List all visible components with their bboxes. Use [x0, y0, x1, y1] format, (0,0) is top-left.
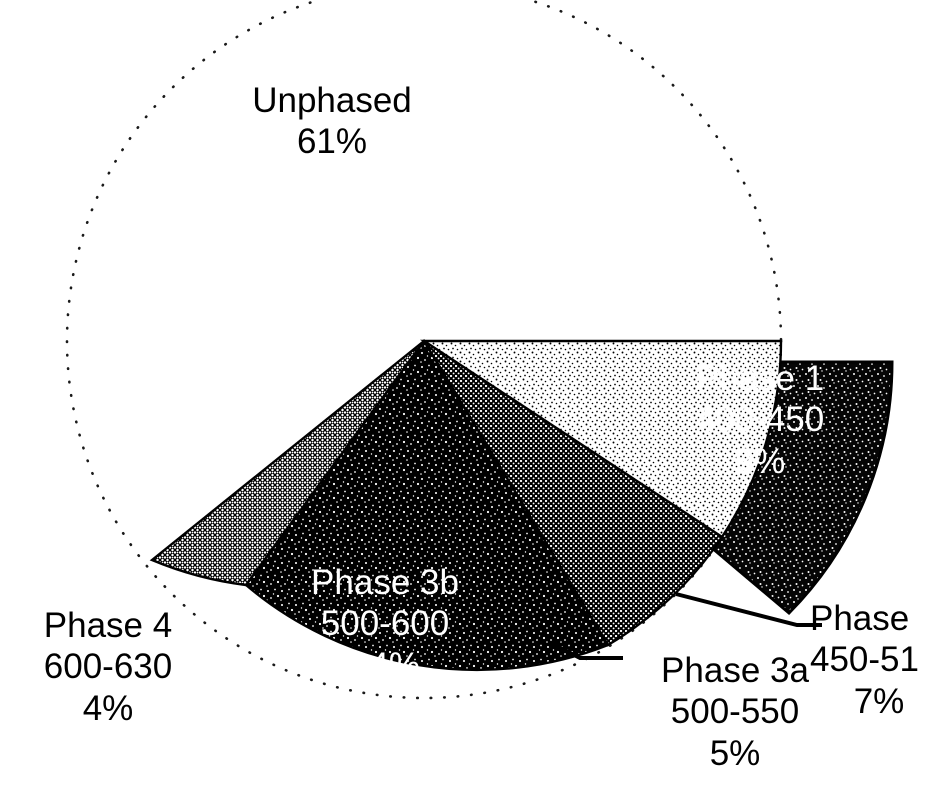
slice-label-unphased-name: Unphased — [182, 80, 482, 121]
slice-label-phase-1-percent: 9% — [630, 441, 890, 482]
slice-label-phase-3b-range: 500-600 — [275, 603, 495, 644]
slice-label-phase-3a: Phase 3a 500-550 5% — [620, 650, 850, 774]
slice-label-phase-1: Phase 1 400-450 9% — [630, 358, 890, 482]
slice-label-phase-3a-percent: 5% — [620, 733, 850, 774]
slice-label-unphased-percent: 61% — [182, 121, 482, 162]
pie-chart-figure: Unphased 61% Phase 1 400-450 9% Phase 45… — [0, 0, 943, 805]
slice-label-unphased: Unphased 61% — [182, 80, 482, 163]
slice-label-phase-4-range: 600-630 — [8, 646, 208, 687]
slice-label-phase-3b-name: Phase 3b — [275, 562, 495, 603]
slice-label-phase-1-name: Phase 1 — [630, 358, 890, 399]
slice-label-phase-3a-range: 500-550 — [620, 691, 850, 732]
slice-label-phase-4: Phase 4 600-630 4% — [8, 605, 208, 729]
slice-label-phase-2-name: Phase — [810, 598, 943, 639]
slice-label-phase-4-name: Phase 4 — [8, 605, 208, 646]
slice-label-phase-3a-name: Phase 3a — [620, 650, 850, 691]
slice-label-phase-1-range: 400-450 — [630, 399, 890, 440]
slice-label-phase-3b-percent: 14% — [275, 645, 495, 686]
slice-label-phase-4-percent: 4% — [8, 688, 208, 729]
slice-label-phase-3b: Phase 3b 500-600 14% — [275, 562, 495, 686]
